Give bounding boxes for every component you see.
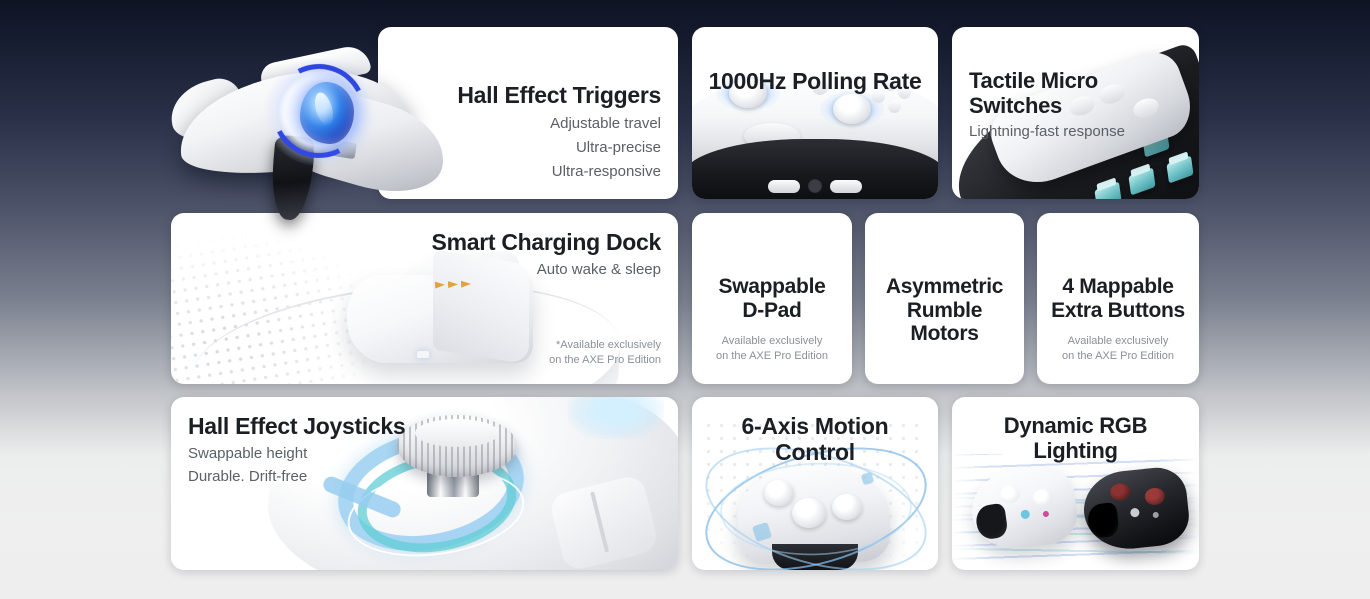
card-6-axis-motion-control[interactable]: 6-Axis Motion Control (692, 397, 938, 570)
joysticks-text: Hall Effect Joysticks Swappable height D… (188, 414, 468, 486)
extra-buttons-fine-print: Available exclusively on the AXE Pro Edi… (1045, 334, 1191, 364)
card-asymmetric-rumble-motors[interactable]: Asymmetric Rumble Motors (865, 213, 1024, 384)
fine-print-line-1: *Available exclusively (431, 338, 661, 353)
card-title: Tactile Micro Switches (969, 69, 1185, 118)
fine-print-line-2: on the AXE Pro Edition (431, 353, 661, 368)
card-title: 6-Axis Motion Control (702, 414, 928, 466)
hero-controller-artwork (168, 30, 468, 215)
card-title-line-2: Rumble Motors (871, 299, 1018, 346)
card-title-line-1: Swappable (698, 275, 846, 299)
card-title: 4 Mappable Extra Buttons (1043, 275, 1193, 322)
card-title-line-2: D-Pad (698, 299, 846, 323)
fine-print-line-2: on the AXE Pro Edition (700, 349, 844, 364)
fine-print-line-2: on the AXE Pro Edition (1045, 349, 1191, 364)
tactile-text: Tactile Micro Switches Lightning-fast re… (969, 69, 1185, 141)
fine-print-line-1: Available exclusively (700, 334, 844, 349)
card-title-line-2: Extra Buttons (1043, 299, 1193, 323)
card-subtitle: Auto wake & sleep (361, 260, 661, 279)
card-subtitle: Lightning-fast response (969, 122, 1185, 141)
card-mappable-extra-buttons[interactable]: 4 Mappable Extra Buttons Available exclu… (1037, 213, 1199, 384)
card-polling-rate[interactable]: 1000 1000Hz Polling Rate (692, 27, 938, 199)
dock-text: Smart Charging Dock Auto wake & sleep (361, 230, 661, 279)
card-subtitle-line-1: Swappable height (188, 444, 468, 463)
feature-grid: Hall Effect Triggers Adjustable travel U… (0, 0, 1370, 599)
fine-print-line-1: Available exclusively (1045, 334, 1191, 349)
card-title: Smart Charging Dock (361, 230, 661, 256)
dpad-fine-print: Available exclusively on the AXE Pro Edi… (700, 334, 844, 364)
card-hall-effect-joysticks[interactable]: Hall Effect Joysticks Swappable height D… (171, 397, 678, 570)
card-title: Swappable D-Pad (698, 275, 846, 322)
polling-rate-watermark: 1000 (692, 83, 938, 180)
card-swappable-dpad[interactable]: Swappable D-Pad Available exclusively on… (692, 213, 852, 384)
card-title: Dynamic RGB Lighting (962, 414, 1189, 463)
card-title: 1000Hz Polling Rate (692, 69, 938, 95)
card-tactile-micro-switches[interactable]: Tactile Micro Switches Lightning-fast re… (952, 27, 1199, 199)
card-title: Hall Effect Joysticks (188, 414, 468, 440)
card-title-line-1: Asymmetric (871, 275, 1018, 299)
card-subtitle-line-2: Durable. Drift-free (188, 467, 468, 486)
card-title-line-1: 4 Mappable (1043, 275, 1193, 299)
card-smart-charging-dock[interactable]: Smart Charging Dock Auto wake & sleep *A… (171, 213, 678, 384)
dock-fine-print: *Available exclusively on the AXE Pro Ed… (431, 338, 661, 368)
card-title: Asymmetric Rumble Motors (871, 275, 1018, 346)
card-dynamic-rgb-lighting[interactable]: Dynamic RGB Lighting (952, 397, 1199, 570)
